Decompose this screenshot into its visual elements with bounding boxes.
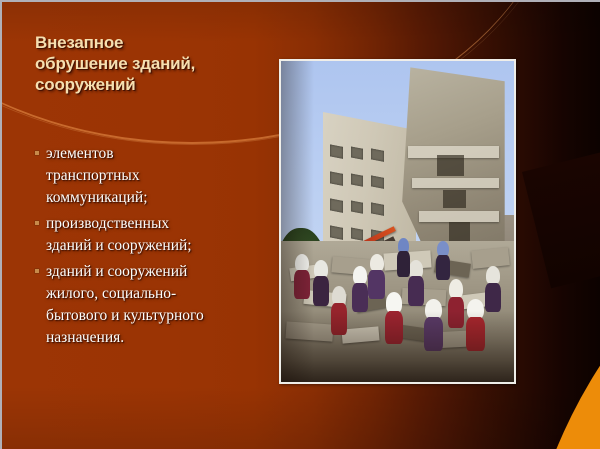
photo-rescue-worker	[398, 238, 410, 277]
slide-image-frame	[279, 59, 516, 384]
list-item-label: зданий и сооружений жилого, социально- б…	[46, 261, 267, 349]
list-item: зданий и сооружений жилого, социально- б…	[35, 261, 267, 349]
photo-rescue-worker	[486, 266, 500, 311]
photo-rescue-worker	[409, 260, 423, 305]
list-item-label: производственных зданий и сооружений;	[46, 213, 267, 257]
collapsed-building-photo	[281, 61, 514, 382]
bullet-list: элементов транспортных коммуникаций; про…	[35, 143, 267, 353]
square-bullet-icon	[35, 151, 39, 155]
photo-rescue-worker	[437, 241, 449, 280]
photo-bottom-shade	[281, 311, 514, 382]
photo-rescue-worker	[370, 254, 384, 299]
photo-rescue-worker	[353, 266, 367, 311]
list-item: производственных зданий и сооружений;	[35, 213, 267, 257]
photo-rescue-worker	[314, 260, 328, 305]
list-item: элементов транспортных коммуникаций;	[35, 143, 267, 209]
presentation-slide: Внезапное обрушение зданий, сооружений э…	[0, 0, 600, 449]
square-bullet-icon	[35, 269, 39, 273]
list-item-label: элементов транспортных коммуникаций;	[46, 143, 267, 209]
slide-title: Внезапное обрушение зданий, сооружений	[35, 32, 265, 95]
square-bullet-icon	[35, 221, 39, 225]
